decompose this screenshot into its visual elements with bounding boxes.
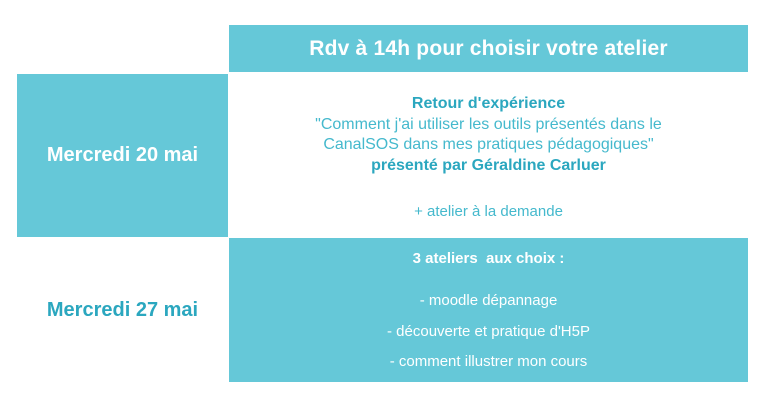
header-title: Rdv à 14h pour choisir votre atelier — [309, 37, 667, 61]
week-1-presenter: présenté par Géraldine Carluer — [371, 156, 606, 176]
day-cell-week-1: Mercredi 20 mai — [17, 74, 228, 237]
content-cell-week-1: Retour d'expérience "Comment j'ai utilis… — [229, 74, 748, 236]
week-1-heading: Retour d'expérience — [412, 94, 565, 114]
day-label-week-1: Mercredi 20 mai — [47, 144, 198, 167]
week-2-workshop-item: - comment illustrer mon cours — [390, 352, 588, 371]
header-banner: Rdv à 14h pour choisir votre atelier — [229, 25, 748, 72]
day-label-week-2: Mercredi 27 mai — [47, 299, 198, 322]
week-1-extra-note: + atelier à la demande — [414, 202, 563, 221]
schedule-board: Rdv à 14h pour choisir votre atelier Mer… — [0, 0, 767, 403]
week-2-workshop-item: - découverte et pratique d'H5P — [387, 322, 590, 341]
week-1-quote-line-1: "Comment j'ai utiliser les outils présen… — [315, 115, 662, 135]
week-1-quote-line-2: CanalSOS dans mes pratiques pédagogiques… — [323, 135, 653, 155]
week-2-heading: 3 ateliers aux choix : — [413, 249, 565, 268]
content-cell-week-2: 3 ateliers aux choix : - moodle dépannag… — [229, 238, 748, 382]
week-2-workshop-item: - moodle dépannage — [420, 291, 558, 310]
day-cell-week-2: Mercredi 27 mai — [17, 238, 228, 382]
